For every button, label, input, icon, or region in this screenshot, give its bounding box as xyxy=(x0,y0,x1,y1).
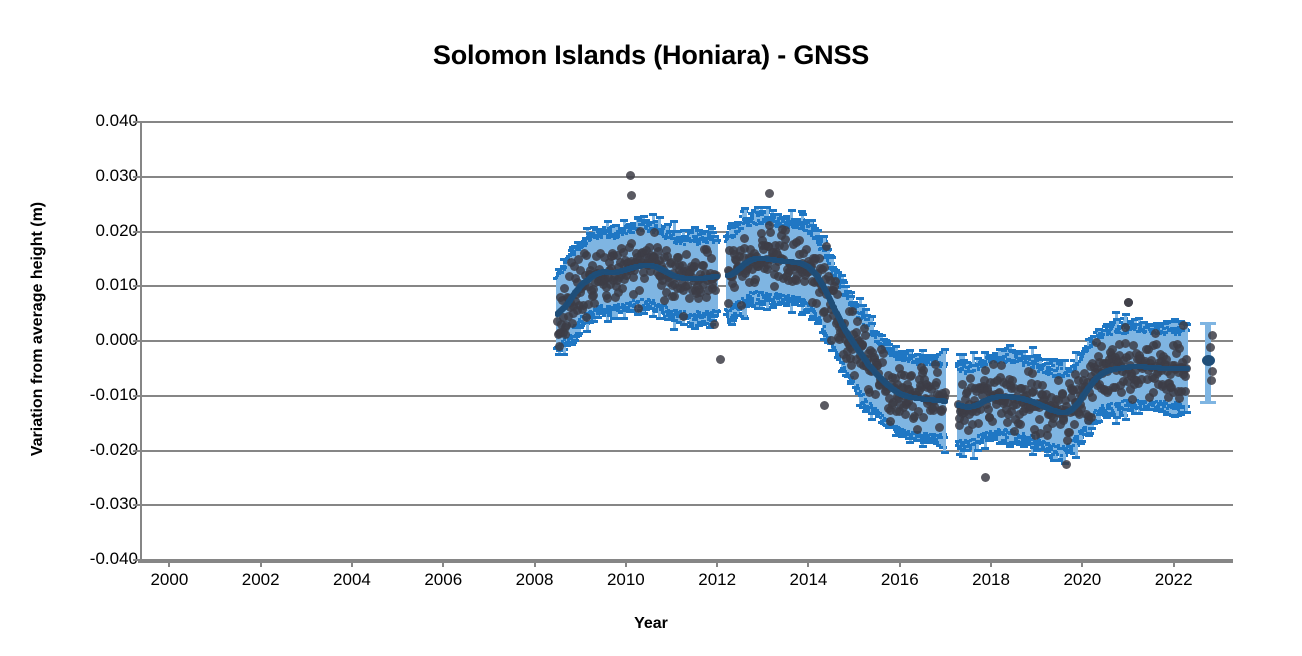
x-tick xyxy=(351,560,353,567)
y-tick xyxy=(133,395,142,397)
x-tick xyxy=(716,560,718,567)
y-tick xyxy=(133,176,142,178)
x-tick-label: 2014 xyxy=(763,570,853,590)
x-tick xyxy=(534,560,536,567)
x-tick-label: 2000 xyxy=(124,570,214,590)
x-tick xyxy=(899,560,901,567)
y-tick-label: -0.040 xyxy=(18,549,138,569)
x-tick-label: 2008 xyxy=(490,570,580,590)
chart-title: Solomon Islands (Honiara) - GNSS xyxy=(0,40,1302,71)
x-tick xyxy=(442,560,444,567)
x-tick xyxy=(625,560,627,567)
x-tick-label: 2002 xyxy=(216,570,306,590)
y-tick xyxy=(133,285,142,287)
x-tick xyxy=(260,560,262,567)
x-tick xyxy=(1081,560,1083,567)
x-tick-label: 2004 xyxy=(307,570,397,590)
x-axis-title: Year xyxy=(0,615,1302,633)
y-tick-label: 0.020 xyxy=(18,221,138,241)
x-tick xyxy=(1173,560,1175,567)
x-tick-label: 2010 xyxy=(581,570,671,590)
y-tick xyxy=(133,231,142,233)
x-tick xyxy=(807,560,809,567)
x-tick-label: 2020 xyxy=(1037,570,1127,590)
chart-root: Solomon Islands (Honiara) - GNSS Variati… xyxy=(0,0,1302,656)
x-tick-label: 2012 xyxy=(672,570,762,590)
y-tick-label: 0.030 xyxy=(18,166,138,186)
y-tick xyxy=(133,450,142,452)
x-tick xyxy=(990,560,992,567)
x-tick-label: 2006 xyxy=(398,570,488,590)
x-tick-label: 2022 xyxy=(1129,570,1219,590)
y-tick-label: -0.010 xyxy=(18,385,138,405)
y-tick xyxy=(133,504,142,506)
plot-area xyxy=(142,122,1233,560)
y-tick-label: -0.020 xyxy=(18,440,138,460)
y-tick xyxy=(133,121,142,123)
y-tick-label: 0.000 xyxy=(18,330,138,350)
x-tick-label: 2018 xyxy=(946,570,1036,590)
x-tick-label: 2016 xyxy=(855,570,945,590)
y-tick-label: -0.030 xyxy=(18,494,138,514)
y-tick-label: 0.040 xyxy=(18,111,138,131)
y-tick xyxy=(133,559,142,561)
x-tick xyxy=(168,560,170,567)
y-tick-label: 0.010 xyxy=(18,275,138,295)
y-tick xyxy=(133,340,142,342)
